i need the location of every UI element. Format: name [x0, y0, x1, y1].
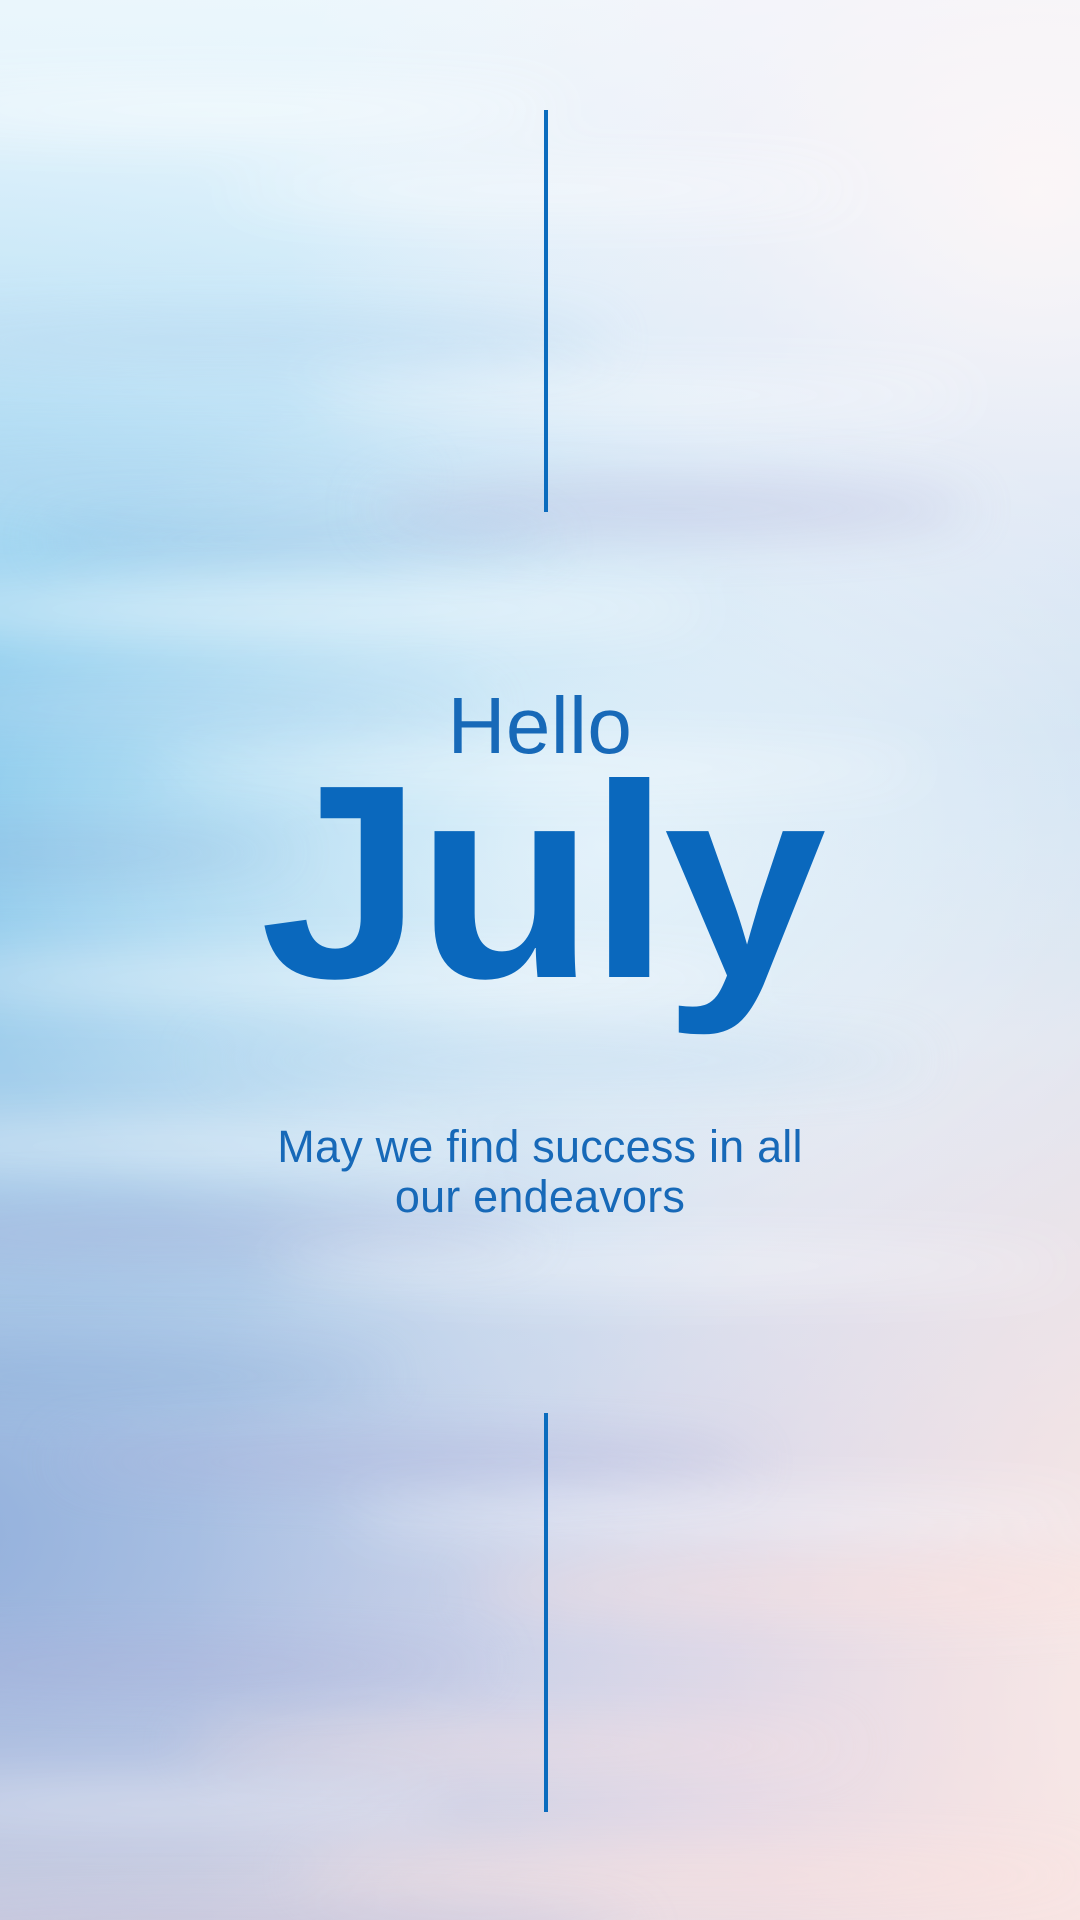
poster-text-block: Hello July May we find success in all ou…: [0, 0, 1080, 1920]
hello-july-poster: Hello July May we find success in all ou…: [0, 0, 1080, 1920]
subtitle-line-1: May we find success in all: [0, 1122, 1080, 1172]
page-title: July: [0, 744, 1080, 1020]
subtitle-line-2: our endeavors: [0, 1172, 1080, 1222]
subtitle: May we find success in all our endeavors: [0, 1122, 1080, 1223]
